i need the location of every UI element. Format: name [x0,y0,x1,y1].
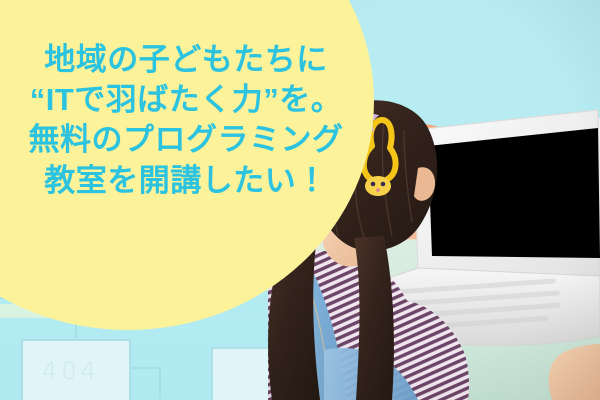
headline-line-4: 教室を開講したい！ [0,165,372,197]
headline: 地域の子どもたちに “ITで羽ばたく力”を。 無料のプログラミング 教室を開講し… [0,44,372,197]
error-code-404: 404 [42,357,100,385]
banner-stage: 地域の子どもたちに “ITで羽ばたく力”を。 無料のプログラミング 教室を開講し… [0,0,600,400]
headline-line-1: 地域の子どもたちに [0,44,372,76]
headline-line-2: “ITで羽ばたく力”を。 [0,84,372,116]
headline-line-3: 無料のプログラミング [0,124,372,156]
